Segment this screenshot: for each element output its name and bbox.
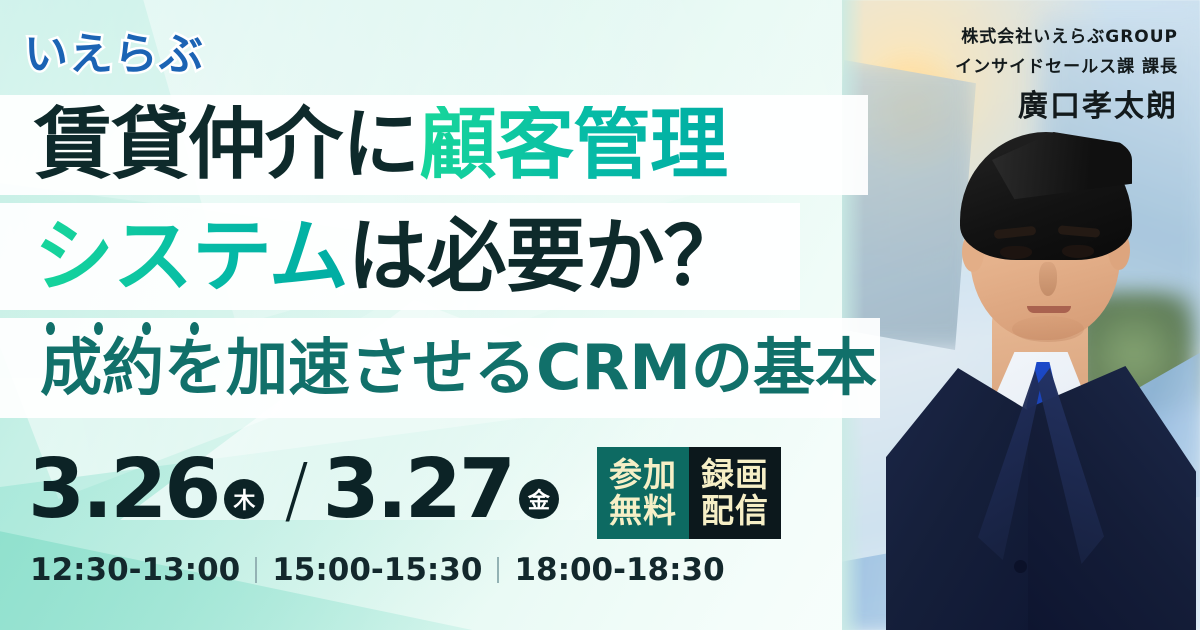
session-time-divider xyxy=(255,557,257,583)
date1-day-of-week-badge: 木 xyxy=(224,479,264,519)
session-time-1: 12:30-13:00 xyxy=(30,552,240,588)
headline-line1-accent: 顧客管理 xyxy=(419,106,727,184)
photo-person-nose xyxy=(1039,262,1057,296)
speaker-role: インサイドセールス課 課長 xyxy=(955,52,1178,77)
badge-free-entry: 参加 無料 xyxy=(597,447,689,539)
emphasis-dots xyxy=(46,322,199,335)
session-times: 12:30-13:00 15:00-15:30 18:00-18:30 xyxy=(30,552,725,588)
photo-person-eye-left xyxy=(1000,246,1032,259)
badge-free-entry-line2: 無料 xyxy=(609,493,677,529)
headline-band-1: 賃貸仲介に 顧客管理 xyxy=(0,95,868,195)
photo-person-chin xyxy=(1012,316,1084,342)
speaker-organization: 株式会社いえらぶGROUP xyxy=(955,22,1178,47)
date-separator: / xyxy=(284,448,308,532)
emphasis-dot xyxy=(46,322,55,335)
emphasis-dot xyxy=(190,322,199,335)
logo-text: いえらぶ xyxy=(24,29,204,80)
event-badges: 参加 無料 録画 配信 xyxy=(597,447,781,539)
session-time-divider xyxy=(497,557,499,583)
session-time-2: 15:00-15:30 xyxy=(272,552,482,588)
emphasis-dot xyxy=(142,322,151,335)
badge-recorded-stream-line2: 配信 xyxy=(701,493,769,529)
session-time-3: 18:00-18:30 xyxy=(514,552,724,588)
photo-person-eye-right xyxy=(1062,245,1094,258)
badge-recorded-stream-line1: 録画 xyxy=(701,457,769,493)
headline-band-2: システム は必要か？ xyxy=(0,203,800,310)
event-dates: 3.26 木 / 3.27 金 xyxy=(28,448,559,532)
headline-line1-plain: 賃貸仲介に xyxy=(34,106,419,184)
emphasis-dot xyxy=(94,322,103,335)
date2-number: 3.27 xyxy=(323,449,513,531)
badge-free-entry-line1: 参加 xyxy=(609,457,677,493)
badge-recorded-stream: 録画 配信 xyxy=(689,447,781,539)
headline-line3: 成約を加速させるCRMの基本 xyxy=(40,337,877,399)
headline-line2-plain: は必要か？ xyxy=(348,217,743,297)
webinar-banner: いえらぶ 賃貸仲介に 顧客管理 システム は必要か？ 成約を加速させるCRMの基… xyxy=(0,0,1200,630)
date2-day-of-week-badge: 金 xyxy=(519,479,559,519)
photo-person-jacket-button xyxy=(1014,560,1027,573)
ielove-logo[interactable]: いえらぶ xyxy=(24,18,204,82)
photo-person-mouth xyxy=(1027,306,1071,313)
date1-number: 3.26 xyxy=(28,449,218,531)
speaker-caption: 株式会社いえらぶGROUP インサイドセールス課 課長 廣口孝太朗 xyxy=(955,22,1178,125)
headline-line2-accent: システム xyxy=(34,217,348,297)
speaker-name: 廣口孝太朗 xyxy=(955,81,1178,125)
